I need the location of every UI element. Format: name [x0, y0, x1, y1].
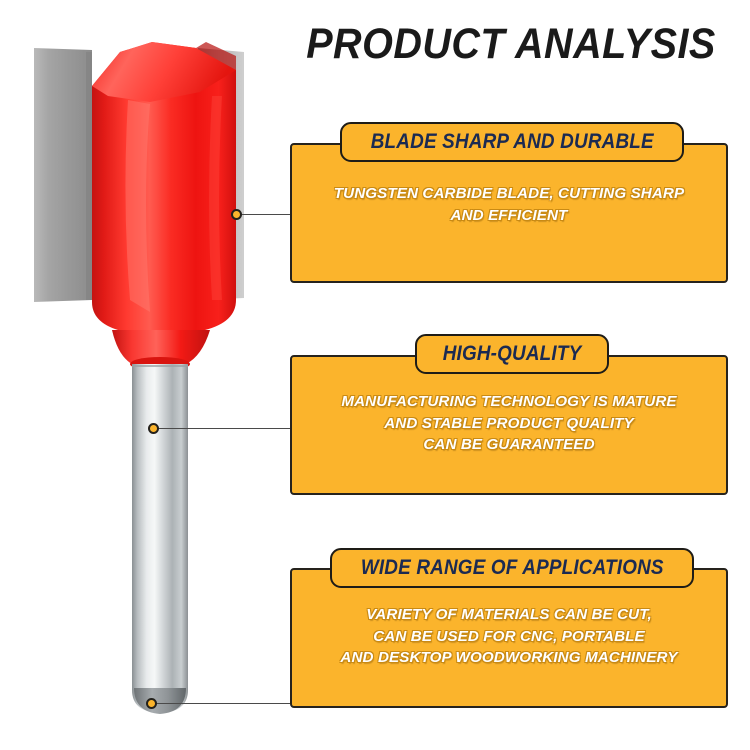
callout-3-body: VARIETY OF MATERIALS CAN BE CUT, CAN BE …: [306, 604, 712, 669]
callout-3-line-3: AND DESKTOP WOODWORKING MACHINERY: [306, 647, 712, 669]
callout-1-heading-badge: BLADE SHARP AND DURABLE: [340, 122, 684, 162]
callout-3-heading: WIDE RANGE OF APPLICATIONS: [361, 556, 664, 580]
callout-panel-wide-range-of-applications: VARIETY OF MATERIALS CAN BE CUT, CAN BE …: [290, 568, 728, 708]
page-title: PRODUCT ANALYSIS: [304, 22, 718, 67]
connector-2-anchor-dot: [148, 423, 159, 434]
callout-panel-high-quality: MANUFACTURING TECHNOLOGY IS MATURE AND S…: [290, 355, 728, 495]
left-carbide-blade: [34, 48, 92, 302]
callout-1-line-2: AND EFFICIENT: [306, 205, 712, 227]
callout-3-line-2: CAN BE USED FOR CNC, PORTABLE: [306, 626, 712, 648]
connector-3-horizontal: [155, 703, 291, 704]
callout-2-heading-badge: HIGH-QUALITY: [415, 334, 609, 374]
connector-3-anchor-dot: [146, 698, 157, 709]
callout-1-heading: BLADE SHARP AND DURABLE: [370, 130, 653, 154]
callout-3-heading-badge: WIDE RANGE OF APPLICATIONS: [330, 548, 694, 588]
callout-2-line-2: AND STABLE PRODUCT QUALITY: [306, 413, 712, 435]
callout-2-line-1: MANUFACTURING TECHNOLOGY IS MATURE: [306, 391, 712, 413]
callout-2-line-3: CAN BE GUARANTEED: [306, 434, 712, 456]
callout-1-body: TUNGSTEN CARBIDE BLADE, CUTTING SHARP AN…: [306, 183, 712, 226]
connector-1-horizontal: [240, 214, 291, 215]
router-bit-illustration: [0, 0, 290, 750]
callout-panel-blade-sharp-and-durable: TUNGSTEN CARBIDE BLADE, CUTTING SHARP AN…: [290, 143, 728, 283]
product-analysis-infographic: PRODUCT ANALYSIS: [0, 0, 750, 750]
callout-2-heading: HIGH-QUALITY: [443, 342, 582, 366]
callout-1-line-1: TUNGSTEN CARBIDE BLADE, CUTTING SHARP: [306, 183, 712, 205]
silver-shank: [132, 364, 188, 713]
shank-tip: [134, 688, 186, 714]
callout-3-line-1: VARIETY OF MATERIALS CAN BE CUT,: [306, 604, 712, 626]
connector-1-anchor-dot: [231, 209, 242, 220]
product-image-router-bit: [0, 0, 290, 750]
connector-2-horizontal: [157, 428, 291, 429]
callout-2-body: MANUFACTURING TECHNOLOGY IS MATURE AND S…: [306, 391, 712, 456]
